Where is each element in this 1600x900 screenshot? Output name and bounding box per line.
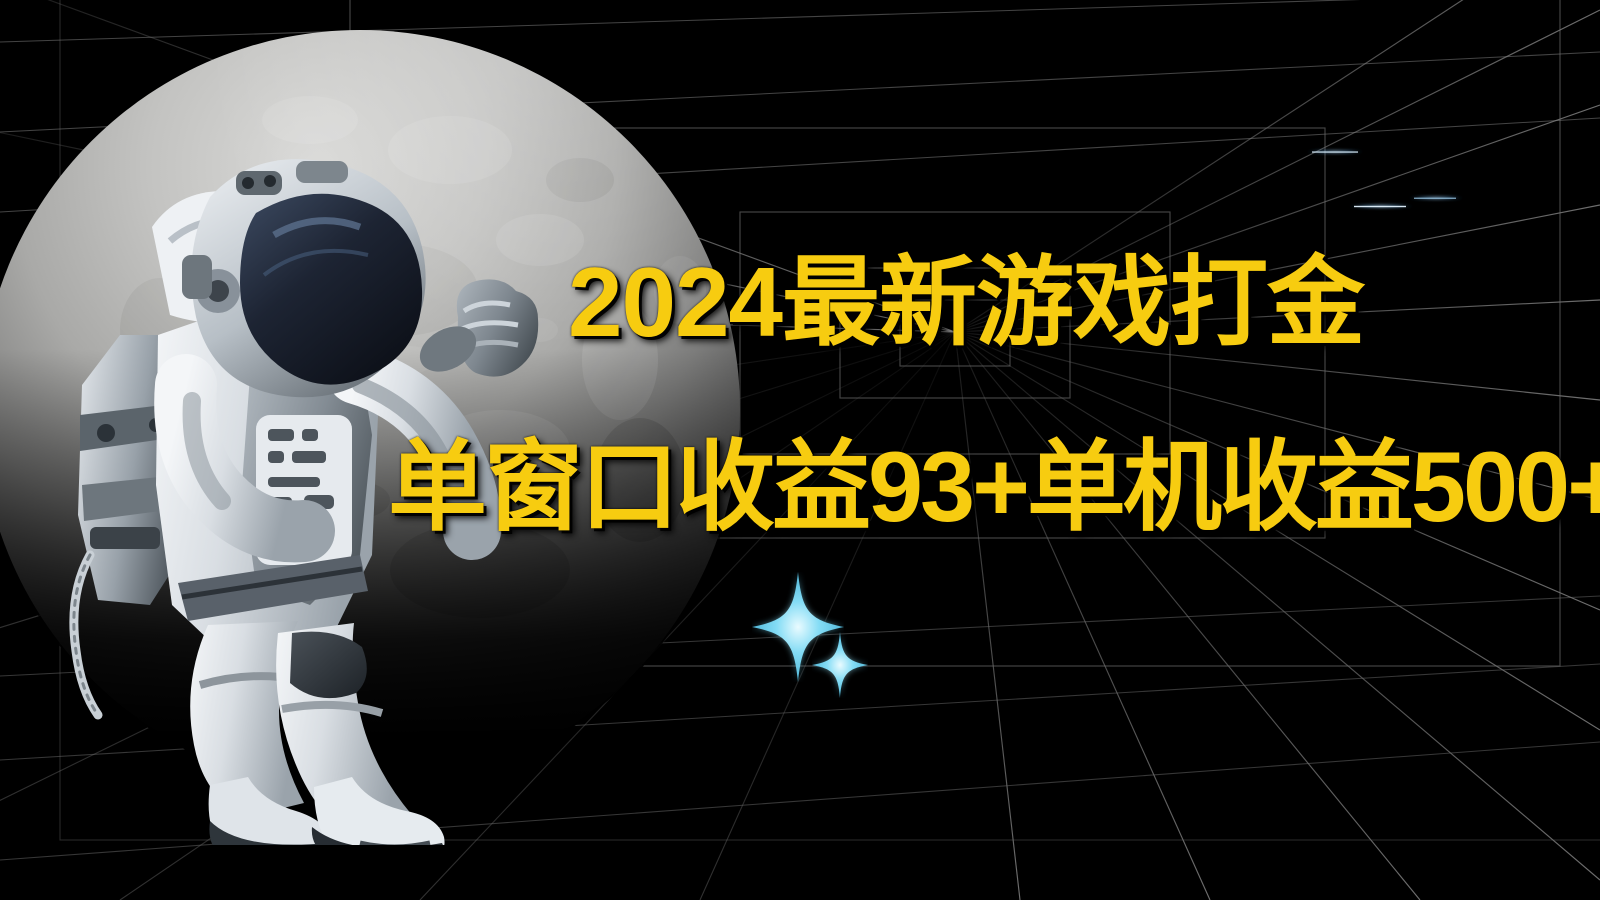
- headline-line-2: 单窗口收益93+单机收益500+: [388, 437, 1600, 536]
- promo-poster: 2024最新游戏打金 单窗口收益93+单机收益500+: [0, 0, 1600, 900]
- headline-line-1: 2024最新游戏打金: [568, 253, 1364, 351]
